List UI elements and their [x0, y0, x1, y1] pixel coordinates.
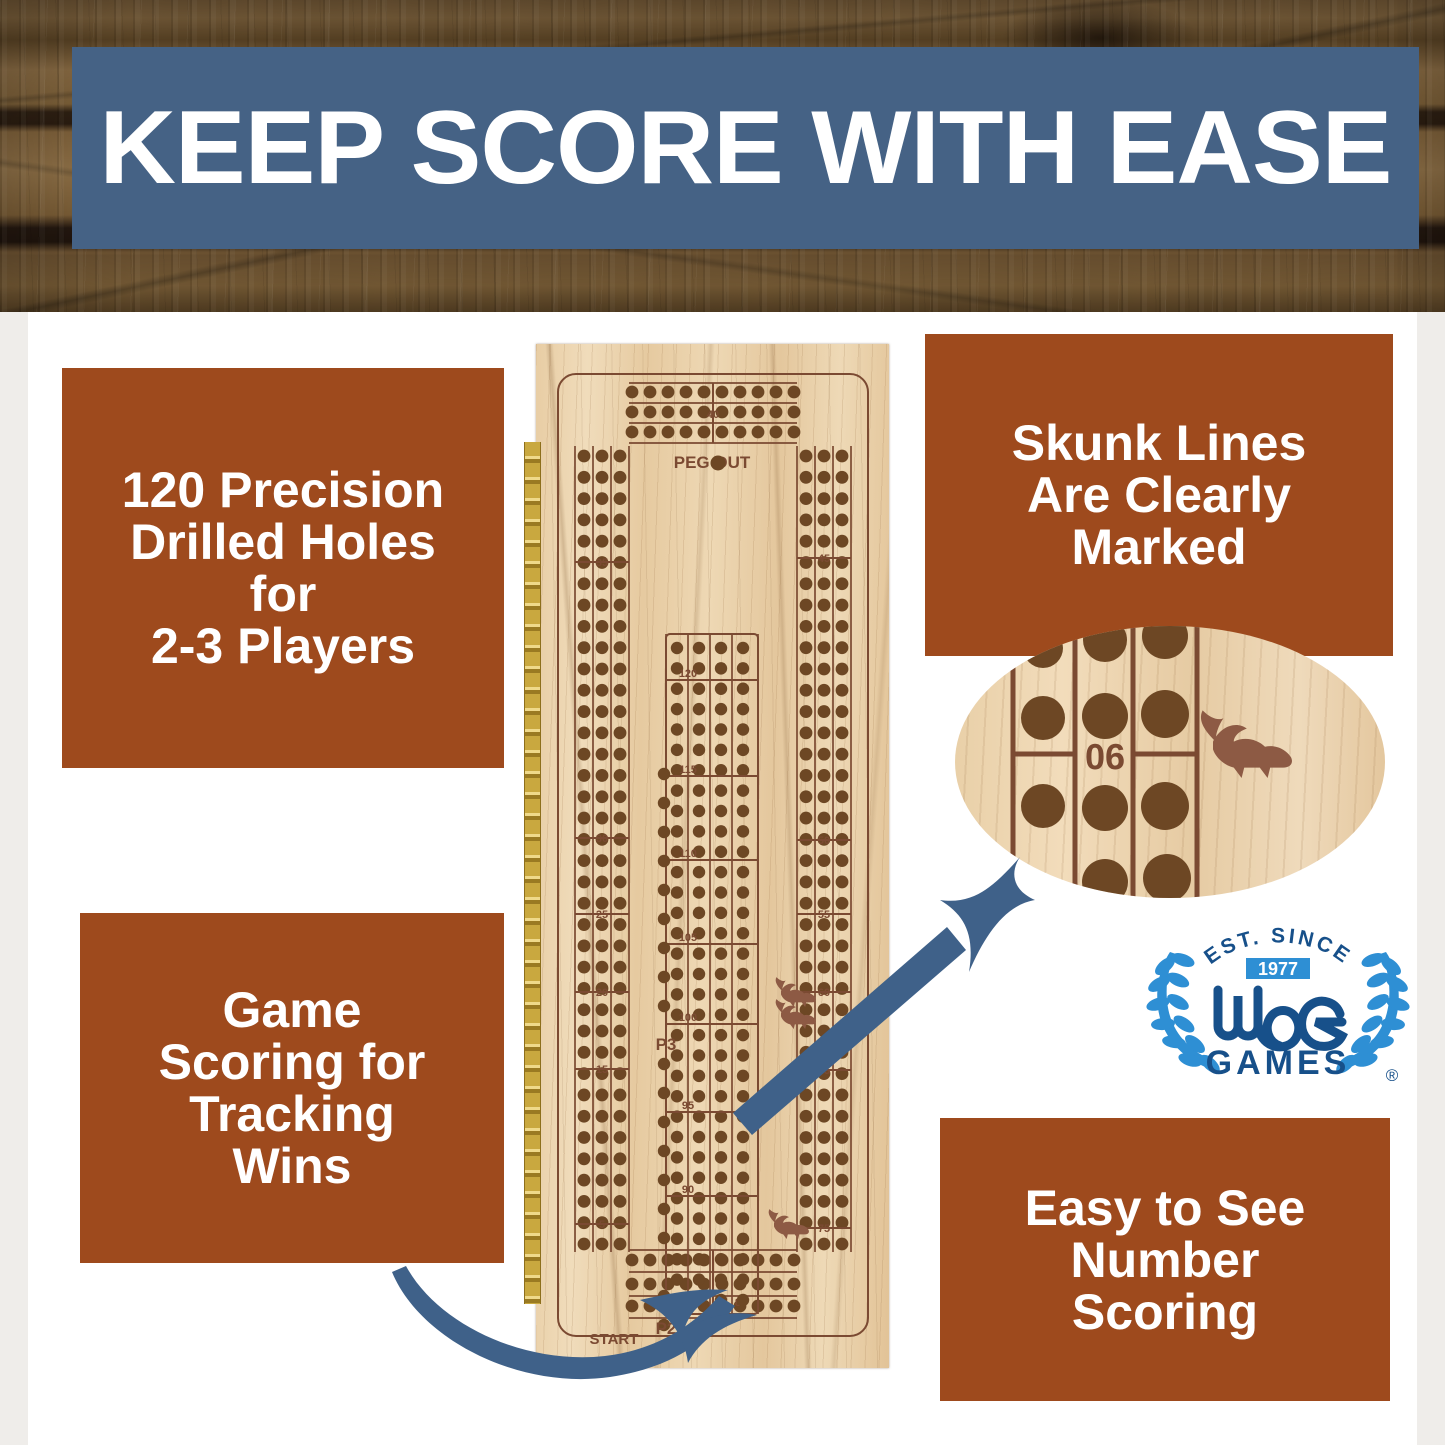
svg-text:110: 110	[679, 848, 697, 860]
svg-text:15: 15	[596, 1064, 608, 1076]
svg-text:60: 60	[818, 987, 830, 999]
logo-registered-mark: ®	[1386, 1066, 1399, 1085]
svg-text:45: 45	[818, 553, 830, 565]
header-wood-background: KEEP SCORE WITH EASE	[0, 0, 1445, 312]
svg-text:P3: P3	[656, 1035, 677, 1054]
detail-number-label: 90	[1085, 736, 1125, 777]
feature-line: Marked	[1071, 521, 1246, 573]
feature-line: Tracking	[189, 1088, 395, 1140]
feature-line: Scoring for	[159, 1036, 426, 1088]
logo-brand: GAMES	[1206, 1044, 1351, 1082]
logo-year: 1977	[1258, 959, 1298, 979]
svg-text:30: 30	[596, 833, 608, 845]
svg-text:105: 105	[679, 932, 697, 944]
feature-box-number-scoring: Easy to See Number Scoring	[940, 1118, 1390, 1401]
we-games-logo: EST. SINCE 1977 GAMES ®	[1140, 918, 1416, 1094]
svg-text:35: 35	[596, 557, 608, 569]
feature-line: 2-3 Players	[151, 620, 415, 672]
svg-text:65: 65	[818, 1065, 830, 1077]
skunk-icon	[1201, 710, 1292, 778]
svg-text:100: 100	[679, 1012, 697, 1024]
page-title: KEEP SCORE WITH EASE	[99, 96, 1391, 200]
infographic-root: KEEP SCORE WITH EASE 120 Precision Drill…	[0, 0, 1445, 1445]
feature-line: Scoring	[1072, 1286, 1258, 1338]
logo-wordmark	[1218, 990, 1342, 1047]
feature-line: for	[250, 568, 317, 620]
feature-line: Are Clearly	[1027, 469, 1291, 521]
board-engraving: 5152025303545505560657540801201151101051…	[536, 344, 889, 1368]
svg-text:90: 90	[682, 1184, 694, 1196]
svg-text:P2: P2	[656, 1319, 677, 1338]
svg-text:95: 95	[682, 1100, 694, 1112]
zoom-detail-ellipse: 90	[955, 626, 1385, 898]
feature-line: 120 Precision	[122, 464, 444, 516]
feature-line: Wins	[233, 1140, 352, 1192]
svg-text:START: START	[590, 1331, 639, 1348]
feature-line: Skunk Lines	[1012, 417, 1307, 469]
svg-text:115: 115	[679, 764, 697, 776]
feature-box-skunk-lines: Skunk Lines Are Clearly Marked	[925, 334, 1393, 656]
svg-text:50: 50	[818, 835, 830, 847]
feature-box-game-scoring: Game Scoring for Tracking Wins	[80, 913, 504, 1263]
feature-line: Number	[1071, 1234, 1260, 1286]
svg-text:40: 40	[707, 409, 719, 421]
svg-text:120: 120	[679, 668, 697, 680]
svg-text:55: 55	[818, 909, 830, 921]
feature-box-drilled-holes: 120 Precision Drilled Holes for 2-3 Play…	[62, 368, 504, 768]
feature-line: Game	[223, 984, 362, 1036]
header-banner: KEEP SCORE WITH EASE	[72, 47, 1419, 249]
cribbage-board: 5152025303545505560657540801201151101051…	[536, 344, 889, 1368]
gold-hinge-icon	[524, 442, 541, 1304]
svg-text:20: 20	[596, 987, 608, 999]
feature-line: Easy to See	[1025, 1182, 1306, 1234]
svg-text:25: 25	[596, 909, 608, 921]
svg-text:5: 5	[599, 1219, 605, 1231]
feature-line: Drilled Holes	[130, 516, 436, 568]
svg-text:75: 75	[818, 1223, 830, 1235]
